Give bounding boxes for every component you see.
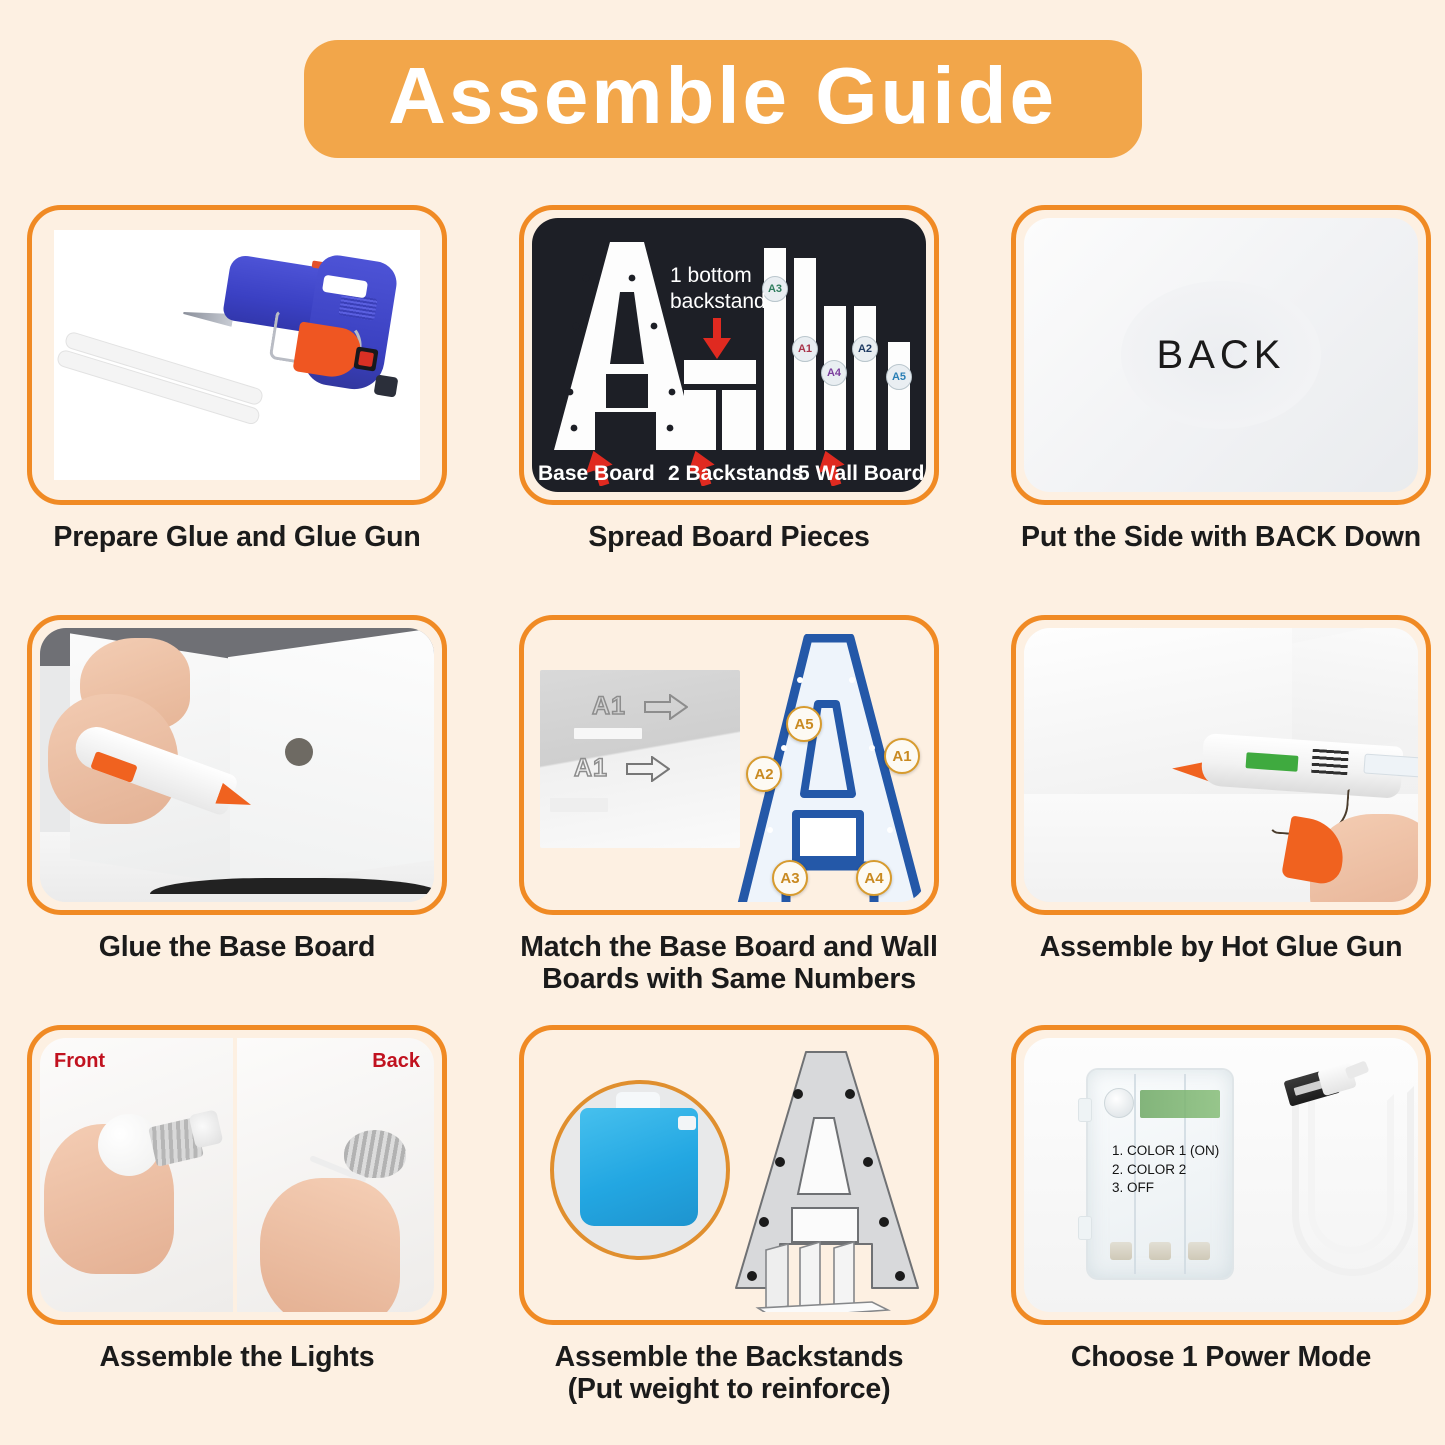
power-mode-2: 2. COLOR 2 [1112,1161,1232,1180]
step-8-caption-line-1: Assemble the Backstands [514,1341,944,1373]
board-badge-a1: A1 [792,336,818,362]
circuit-board-icon [1140,1090,1220,1118]
front-sub-photo: Front [40,1038,237,1312]
assemble-guide-page: Assemble Guide [0,0,1445,1445]
battery-cells [1102,1238,1218,1264]
step-card-2: A3 A1 A4 A2 A5 1 bottom backstand [514,205,944,615]
step-8-caption-line-2: (Put weight to reinforce) [514,1373,944,1405]
glue-gun-vents-icon [1311,749,1349,775]
box-tab-icon [1078,1098,1092,1122]
step-card-4: Glue the Base Board [22,615,452,1025]
back-board-photo: BACK [1024,218,1418,492]
arrow-right-icon [644,694,688,720]
step-1-image-frame [27,205,447,505]
step-card-1: Prepare Glue and Glue Gun [22,205,452,615]
arrow-down-icon [700,318,734,360]
bulb-hole-icon [285,738,313,766]
water-bag-inset-photo [550,1080,730,1260]
board-badge-a3: A3 [762,276,788,302]
step-2-image-frame: A3 A1 A4 A2 A5 1 bottom backstand [519,205,939,505]
step-4-image-frame [27,615,447,915]
step-card-7: Front Back Assemble the Lights [22,1025,452,1435]
glue-gun-photo [40,218,434,492]
bulb-socket-icon [344,1130,406,1178]
hand-holding-wire [260,1178,400,1312]
letter-badge-a4: A4 [856,860,892,896]
embossed-label-a1-top: A1 [592,692,626,721]
backstand-right-piece [722,390,756,450]
white-board-surface: BACK [1024,218,1418,492]
step-card-6: Assemble by Hot Glue Gun [1006,615,1436,1025]
right-board [228,628,434,889]
usb-cable-loop-inner [1308,1094,1394,1254]
group-label-wall-boards: 5 Wall Boards [798,462,926,486]
step-5-caption-line-2: Boards with Same Numbers [514,963,944,995]
board-badge-a4: A4 [821,360,847,386]
embossed-label-a1-bottom: A1 [574,754,608,783]
step-9-caption: Choose 1 Power Mode [1006,1341,1436,1373]
glue-gun-power-switch-icon [353,346,378,371]
board-badge-a5: A5 [886,364,912,390]
assembled-letter-a-3d: A5 A1 A2 A3 A4 [732,634,926,902]
bulb-front-back-photo: Front Back [40,1038,434,1312]
back-label: Back [372,1050,420,1073]
step-8-caption: Assemble the Backstands (Put weight to r… [514,1341,944,1406]
step-9-image-frame: 1. COLOR 1 (ON) 2. COLOR 2 3. OFF [1011,1025,1431,1325]
battery-box: 1. COLOR 1 (ON) 2. COLOR 2 3. OFF [1086,1068,1234,1280]
gluing-base-board-photo [40,628,434,902]
mode-switch-button[interactable] [1104,1088,1134,1118]
board-tab-icon [550,798,608,812]
box-tab-icon [1078,1216,1092,1240]
step-5-caption-line-1: Match the Base Board and Wall [514,931,944,963]
step-7-image-frame: Front Back [27,1025,447,1325]
group-label-base-board: Base Board [538,462,655,486]
step-6-image-frame [1011,615,1431,915]
group-label-backstands: 2 Backstands [668,462,803,486]
back-label: BACK [1157,333,1286,378]
title-banner: Assemble Guide [304,40,1142,158]
power-mode-photo: 1. COLOR 1 (ON) 2. COLOR 2 3. OFF [1024,1038,1418,1312]
letter-badge-a3: A3 [772,860,808,896]
step-6-caption: Assemble by Hot Glue Gun [1006,931,1436,963]
light-bulb-icon [98,1114,160,1176]
battery-cell [1188,1242,1210,1260]
match-numbers-photo: A1 A1 [532,628,926,902]
step-2-caption: Spread Board Pieces [514,521,944,553]
wall-board-a5 [888,342,910,450]
glue-gun-end-cap-icon [374,374,399,397]
page-title: Assemble Guide [374,54,1072,138]
step-3-image-frame: BACK [1011,205,1431,505]
backstands-diagram [532,1038,926,1312]
board-tab-icon [574,728,642,739]
board-pieces-diagram: A3 A1 A4 A2 A5 1 bottom backstand [532,218,926,492]
back-sub-photo: Back [237,1038,434,1312]
wall-board-a2 [854,306,876,450]
step-3-caption: Put the Side with BACK Down [1006,521,1436,553]
step-1-caption: Prepare Glue and Glue Gun [22,521,452,553]
power-mode-3: 3. OFF [1112,1179,1232,1198]
step-card-9: 1. COLOR 1 (ON) 2. COLOR 2 3. OFF [1006,1025,1436,1435]
letter-badge-a1: A1 [884,738,920,774]
step-card-5: A1 A1 [514,615,944,1025]
letter-badge-a2: A2 [746,756,782,792]
backstand-top-piece [684,360,756,384]
battery-cell [1110,1242,1132,1260]
board-badge-a2: A2 [852,336,878,362]
step-5-caption: Match the Base Board and Wall Boards wit… [514,931,944,996]
steps-grid: Prepare Glue and Glue Gun [22,205,1434,1435]
arrow-right-icon [626,756,670,782]
power-mode-1: 1. COLOR 1 (ON) [1112,1142,1232,1161]
letter-badge-a5: A5 [786,706,822,742]
letter-a-with-backstands [722,1044,926,1312]
backstand-left-piece [684,390,716,450]
step-8-image-frame [519,1025,939,1325]
embossed-boards-photo: A1 A1 [540,670,740,848]
step-4-caption: Glue the Base Board [22,931,452,963]
step-card-3: BACK Put the Side with BACK Down [1006,205,1436,615]
battery-cell [1149,1242,1171,1260]
water-bag-cap-icon [678,1116,696,1130]
front-label: Front [54,1050,105,1073]
step-5-image-frame: A1 A1 [519,615,939,915]
power-modes-list: 1. COLOR 1 (ON) 2. COLOR 2 3. OFF [1112,1142,1232,1198]
step-7-caption: Assemble the Lights [22,1341,452,1373]
step-card-8: Assemble the Backstands (Put weight to r… [514,1025,944,1435]
letter-a-3d-gray-icon [722,1044,926,1312]
tip-text-line-1: 1 bottom [670,264,752,288]
tip-text-line-2: backstand [670,290,766,314]
hot-glue-gun-photo [1024,628,1418,902]
page-title-area: Assemble Guide [0,40,1445,158]
